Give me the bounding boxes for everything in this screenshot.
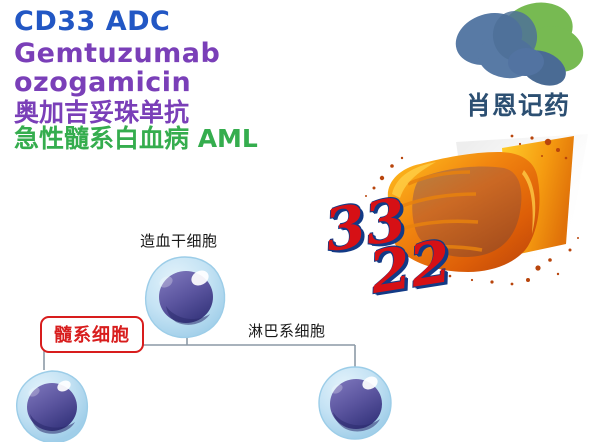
infographic-canvas: CD33 ADC Gemtuzumab ozogamicin 奥加吉妥珠单抗 急… [0, 0, 600, 442]
label-hematopoietic-stem-cell: 造血干细胞 [140, 230, 218, 251]
title-line-gemtuzumab: Gemtuzumab [14, 40, 334, 68]
label-lymphoid-cells: 淋巴系细胞 [248, 320, 326, 341]
badge-myeloid-cells[interactable]: 髓系细胞 [40, 316, 144, 353]
title-line-ozogamicin: ozogamicin [14, 69, 334, 97]
title-line-cd33-adc: CD33 ADC [14, 8, 334, 36]
title-block: CD33 ADC Gemtuzumab ozogamicin 奥加吉妥珠单抗 急… [14, 6, 334, 152]
title-line-chinese-disease-aml: 急性髓系白血病 AML [14, 126, 334, 152]
cell-lineage-diagram: 造血干细胞 髓系细胞 淋巴 [0, 218, 600, 442]
lymphoid-cell-icon [315, 364, 395, 442]
company-logo: 肖恩记药 [443, 2, 593, 124]
myeloid-cell-icon [12, 368, 92, 442]
brain-logo-icon [443, 2, 593, 94]
title-line-chinese-drug-name: 奥加吉妥珠单抗 [14, 100, 334, 126]
stem-cell-icon [142, 254, 228, 340]
logo-company-name: 肖恩记药 [443, 86, 593, 122]
